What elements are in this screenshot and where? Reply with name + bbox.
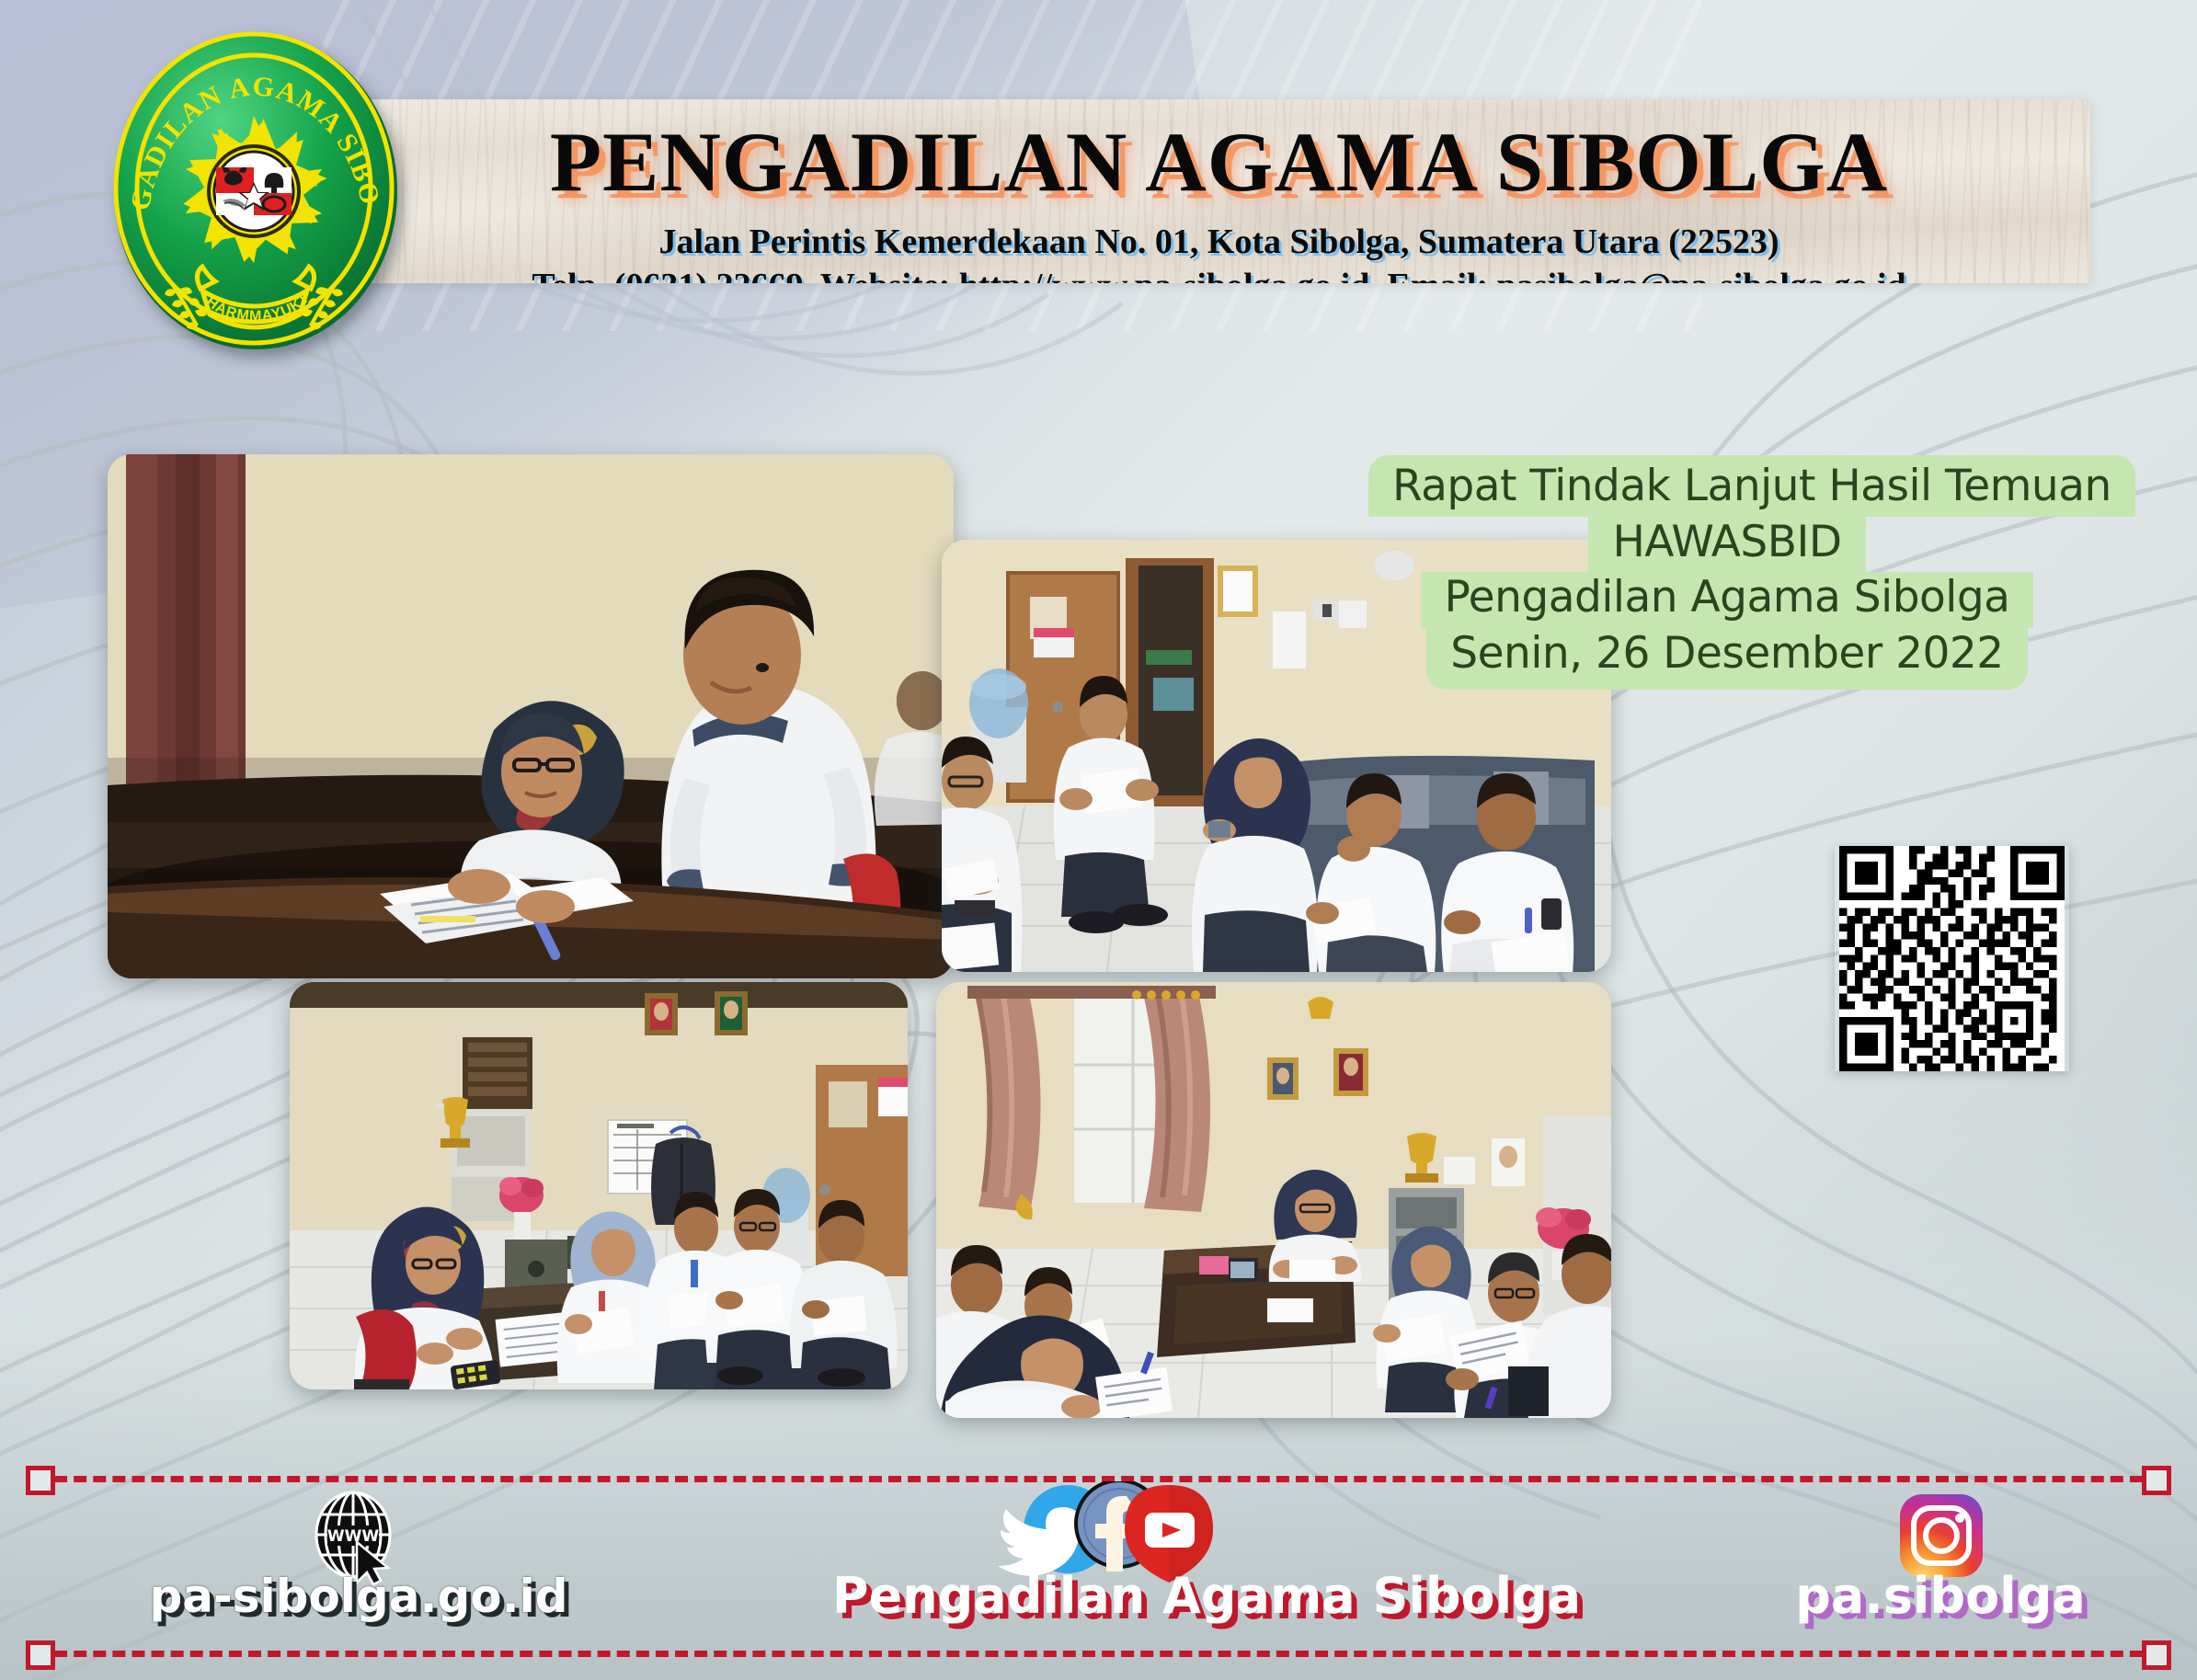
contact-line: Telp. (0631) 22669, Website: http://www.… [348, 265, 2090, 283]
caption-line-3: Pengadilan Agama Sibolga [1421, 572, 2034, 628]
footer: WWW pa-sibolga.go.id [0, 1456, 2197, 1680]
footer-corner-top-left [26, 1466, 55, 1495]
svg-text:WWW: WWW [327, 1527, 380, 1546]
footer-corner-bottom-left [26, 1640, 55, 1670]
logo-coat-of-arms [216, 167, 292, 224]
caption-line-4: Senin, 26 Desember 2022 [1426, 628, 2027, 690]
footer-corner-top-right [2142, 1466, 2171, 1495]
footer-divider-bottom [35, 1651, 2162, 1657]
photo-meeting-room-discussion [936, 982, 1611, 1418]
caption-line-2: HAWASBID [1588, 517, 1865, 573]
footer-instagram-label[interactable]: pa.sibolga [1720, 1571, 2161, 1621]
footer-social-label[interactable]: Pengadilan Agama Sibolga [832, 1571, 1402, 1621]
photo-woman-and-man-reviewing-documents [108, 454, 954, 978]
photo-office-meeting-with-staff [290, 982, 908, 1389]
event-caption: Rapat Tindak Lanjut Hasil Temuan HAWASBI… [1368, 455, 2086, 690]
footer-website-group[interactable]: WWW pa-sibolga.go.id [101, 1498, 616, 1619]
qr-code[interactable] [1835, 846, 2069, 1071]
court-logo: PENGADILAN AGAMA SIBOLGA [109, 29, 403, 351]
header-banner: PENGADILAN AGAMA SIBOLGA Jalan Perintis … [348, 99, 2090, 283]
caption-line-1: Rapat Tindak Lanjut Hasil Temuan [1368, 455, 2135, 517]
footer-website-label[interactable]: pa-sibolga.go.id [101, 1573, 616, 1619]
footer-instagram-group[interactable]: pa.sibolga [1720, 1496, 2161, 1621]
address-line: Jalan Perintis Kemerdekaan No. 01, Kota … [348, 221, 2090, 263]
footer-social-group[interactable]: Pengadilan Agama Sibolga [832, 1496, 1402, 1621]
footer-corner-bottom-right [2142, 1640, 2171, 1670]
page-title: PENGADILAN AGAMA SIBOLGA [348, 120, 2090, 204]
